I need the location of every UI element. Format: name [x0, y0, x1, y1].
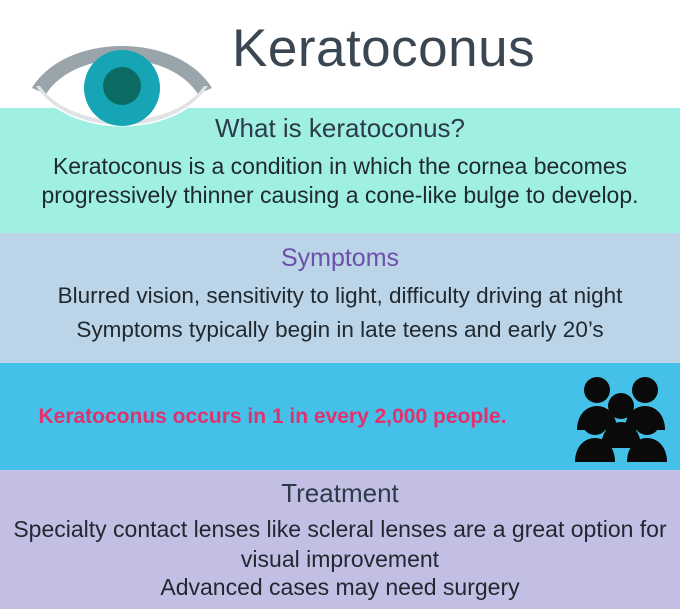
- about-body-text: Keratoconus is a condition in which the …: [0, 152, 680, 210]
- page-title: Keratoconus: [232, 22, 535, 75]
- treatment-body-text: Specialty contact lenses like scleral le…: [0, 514, 680, 574]
- symptoms-line-two: Symptoms typically begin in late teens a…: [0, 315, 680, 344]
- eye-icon: [28, 28, 216, 146]
- statistic-text: Keratoconus occurs in 1 in every 2,000 p…: [0, 405, 545, 429]
- symptoms-heading: Symptoms: [0, 244, 680, 273]
- treatment-heading: Treatment: [0, 478, 680, 509]
- keratoconus-infographic: Keratoconus What is keratoconus? Keratoc…: [0, 0, 680, 609]
- symptoms-line-one: Blurred vision, sensitivity to light, di…: [0, 281, 680, 310]
- group-of-people-icon: [573, 374, 669, 462]
- treatment-extra-text: Advanced cases may need surgery: [0, 573, 680, 602]
